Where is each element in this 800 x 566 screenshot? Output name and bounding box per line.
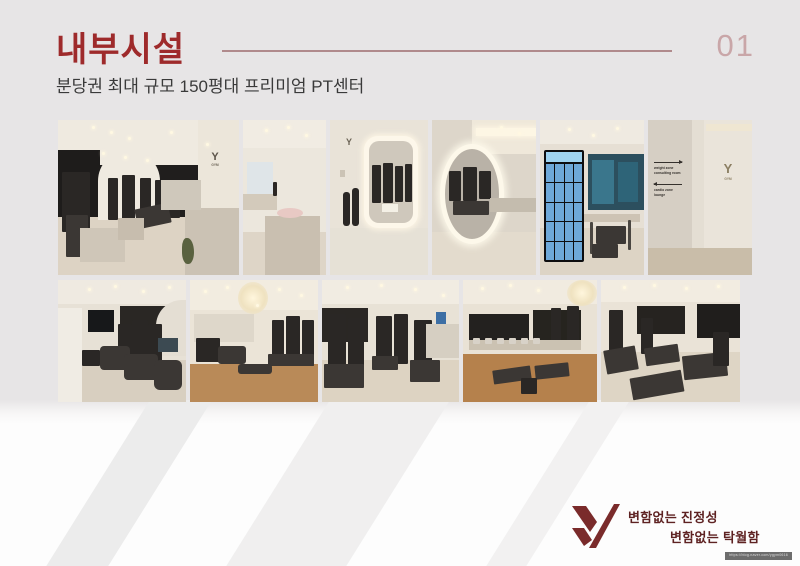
brand-tagline: 변함없는 진정성 변함없는 탁월함 bbox=[628, 508, 760, 548]
slide-number: 01 bbox=[717, 28, 755, 64]
photo-signage-wall[interactable]: weight zone consulting room cardio zone … bbox=[648, 120, 752, 275]
photo-reception-counter[interactable] bbox=[243, 120, 326, 275]
tagline-line-1: 변함없는 진정성 bbox=[628, 510, 718, 525]
tagline-line-2: 변함없는 탁월함 bbox=[628, 528, 760, 548]
photo-machine-zone[interactable] bbox=[322, 280, 459, 402]
brand-logo-icon bbox=[570, 502, 622, 550]
photo-round-mirror-wall[interactable] bbox=[432, 120, 536, 275]
photo-chandelier-weight[interactable] bbox=[190, 280, 318, 402]
photo-mirror-entry[interactable]: Y bbox=[330, 120, 428, 275]
photo-leg-press-zone[interactable] bbox=[601, 280, 740, 402]
page-subtitle: 분당권 최대 규모 150평대 프리미엄 PT센터 bbox=[56, 72, 364, 97]
source-url: https://blog.naver.com/ygym0616 bbox=[725, 552, 792, 560]
page-title: 내부시설 bbox=[56, 22, 185, 71]
photo-gallery: Y GYM bbox=[58, 120, 744, 402]
presentation-slide: 내부시설 01 분당권 최대 규모 150평대 프리미엄 PT센터 bbox=[0, 0, 800, 566]
photo-vending-lounge[interactable] bbox=[540, 120, 644, 275]
gallery-row-top: Y GYM bbox=[58, 120, 744, 275]
photo-lobby-gym-view[interactable]: Y GYM bbox=[58, 120, 239, 275]
photo-cardio-zone[interactable] bbox=[58, 280, 186, 402]
gallery-row-bottom bbox=[58, 280, 744, 402]
photo-dumbbell-zone[interactable] bbox=[463, 280, 597, 402]
title-divider bbox=[222, 50, 672, 52]
